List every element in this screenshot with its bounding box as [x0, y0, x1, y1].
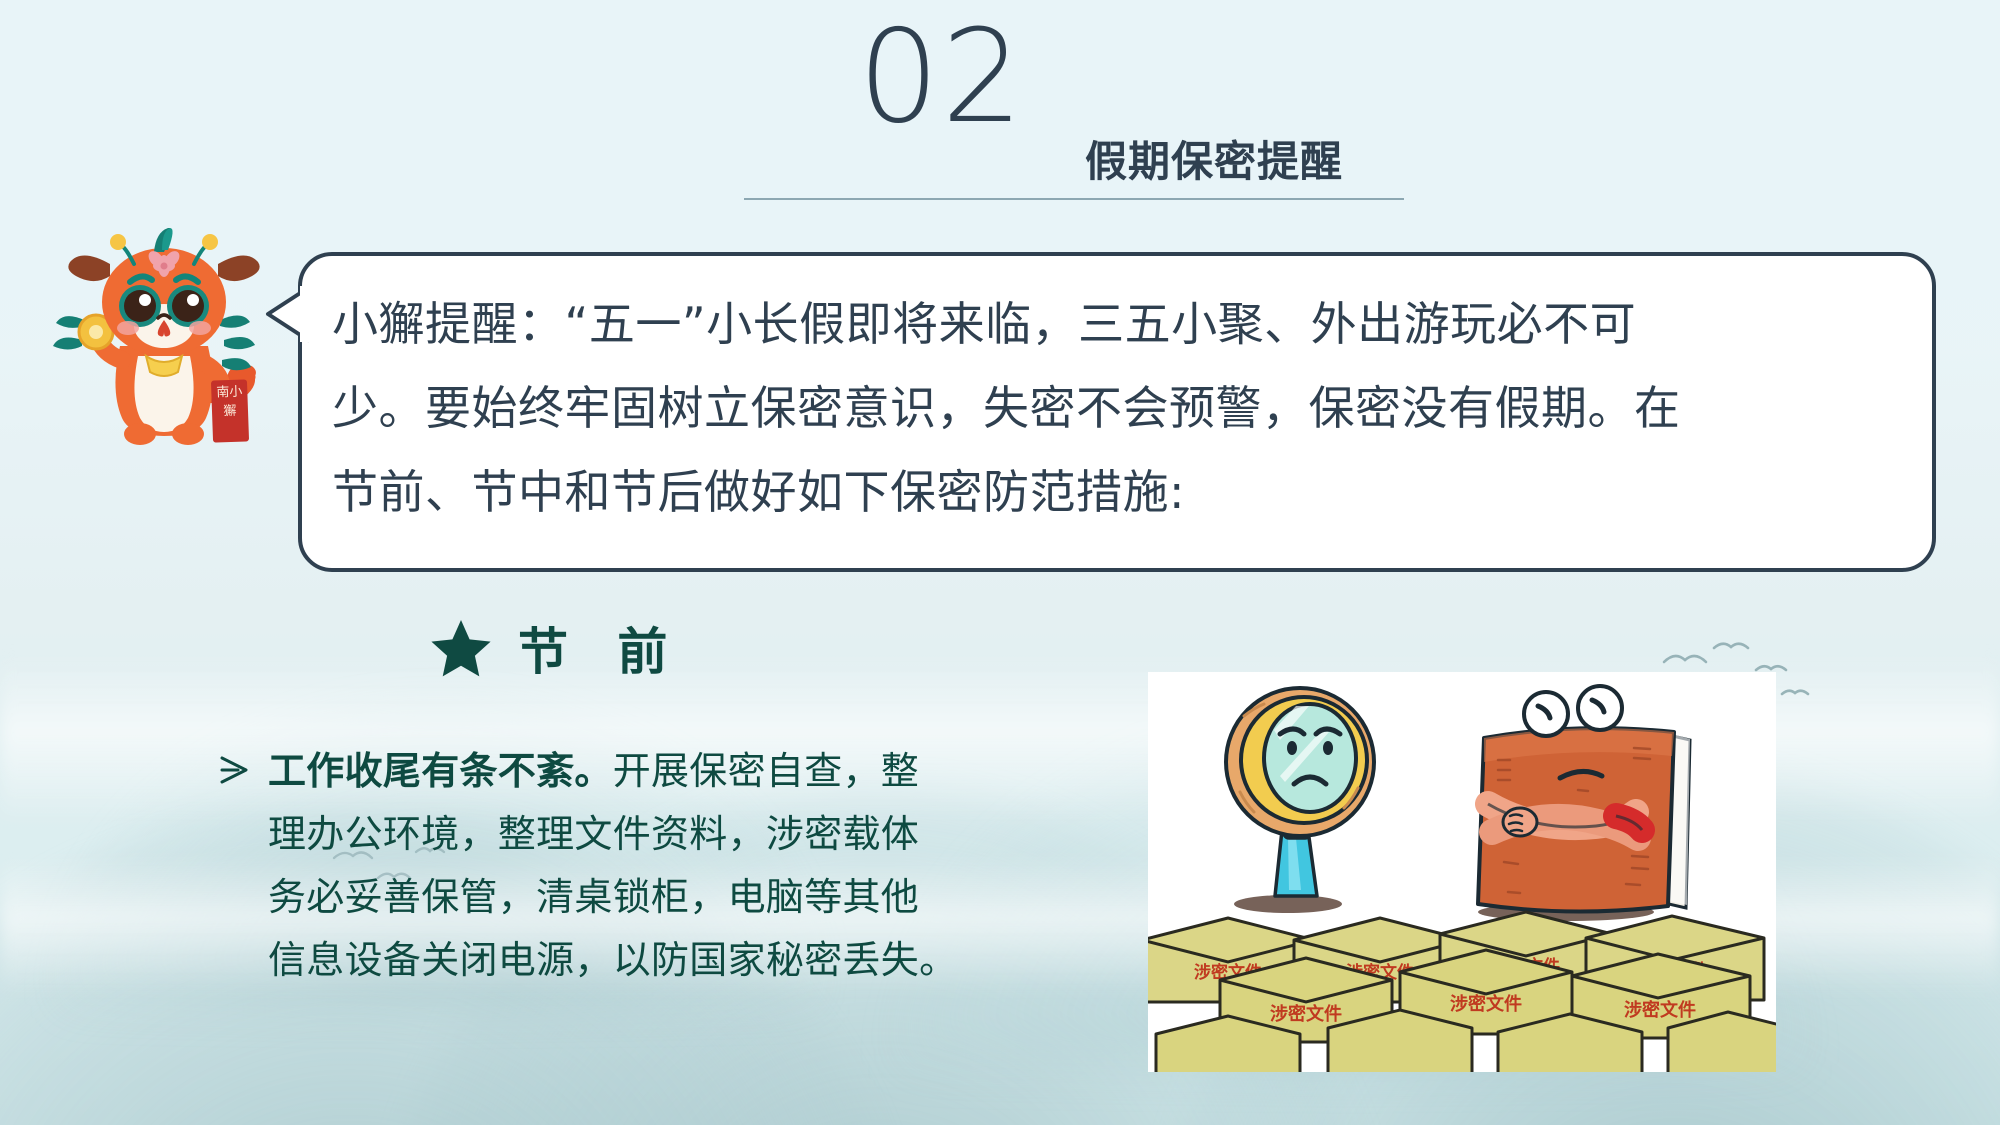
chevron-bullet-icon [216, 752, 252, 788]
bullet-line-2: 理办公环境，整理文件资料，涉密载体 [268, 803, 1006, 866]
envelope-label: 涉密文件 [1450, 993, 1522, 1015]
speech-bubble-tail [264, 284, 310, 344]
bullet-line-3: 务必妥善保管，清桌锁柜，电脑等其他 [268, 866, 1006, 929]
bubble-line-3: 节前、节中和节后做好如下保密防范措施: [332, 450, 1902, 534]
slide-header: 02 假期保密提醒 [0, 0, 2000, 210]
bullet-block: 工作收尾有条不紊。开展保密自查，整 理办公环境，整理文件资料，涉密载体 务必妥善… [216, 740, 1006, 992]
mascot-seal: 南小獬 [211, 379, 249, 442]
section-subtitle: 假期保密提醒 [1085, 128, 1343, 189]
bullet-line-4: 信息设备关闭电源，以防国家秘密丢失。 [268, 929, 1006, 992]
section-number: 02 [858, 14, 1025, 142]
section-heading: 节 前 [430, 612, 683, 684]
envelope-label: 涉密文件 [1624, 999, 1696, 1021]
mascot-illustration: 南小獬 [52, 228, 277, 453]
bullet-text: 工作收尾有条不紊。开展保密自查，整 理办公环境，整理文件资料，涉密载体 务必妥善… [268, 740, 1006, 992]
bullet-line-1: 工作收尾有条不紊。开展保密自查，整 [268, 740, 1006, 803]
security-selfcheck-illustration: 涉密文件 涉密文件 涉密文件 涉密文件 [1148, 672, 1776, 1072]
envelope-label: 涉密文件 [1270, 1003, 1342, 1025]
bubble-line-2: 少。要始终牢固树立保密意识，失密不会预警，保密没有假期。在 [332, 366, 1902, 450]
header-divider [744, 198, 1404, 200]
speech-bubble-text: 小獬提醒：“五一”小长假即将来临，三五小聚、外出游玩必不可 少。要始终牢固树立保… [332, 282, 1902, 534]
section-heading-label: 节 前 [518, 612, 683, 684]
slide-canvas: 02 假期保密提醒 [0, 0, 2000, 1125]
bubble-line-1: 小獬提醒：“五一”小长假即将来临，三五小聚、外出游玩必不可 [332, 282, 1902, 366]
star-icon [430, 618, 492, 678]
